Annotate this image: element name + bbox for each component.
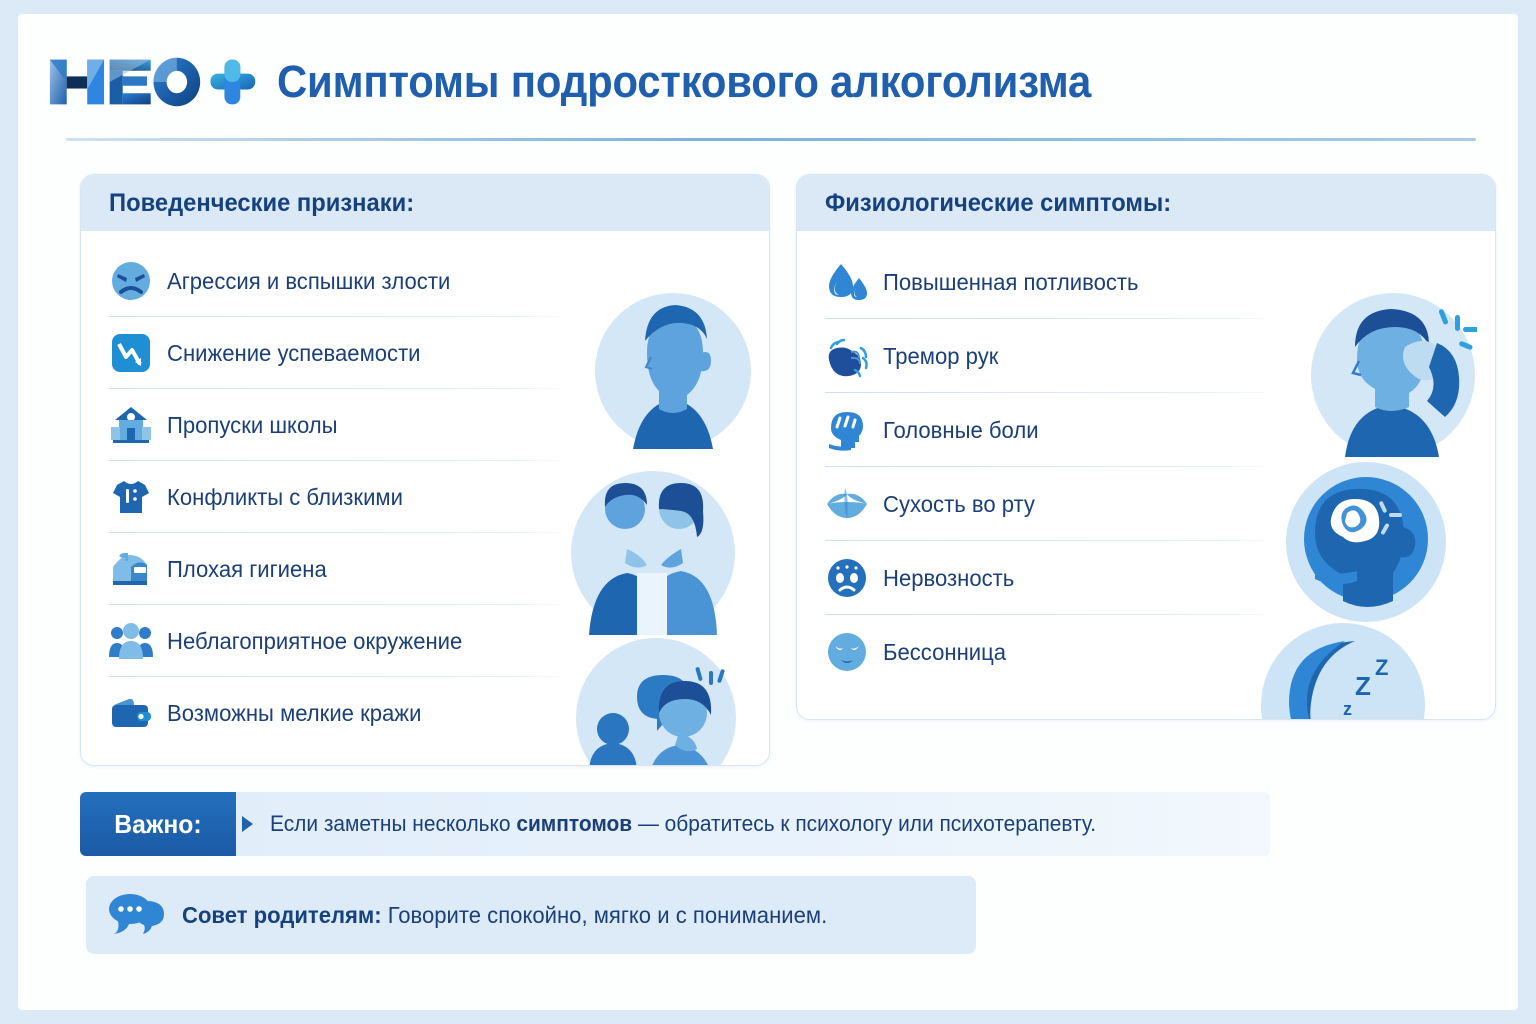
list-item-label: Плохая гигиена: [167, 556, 327, 583]
list-item[interactable]: Конфликты с близкими: [81, 461, 769, 533]
advice-body: Говорите спокойно, мягко и с пониманием.: [382, 902, 828, 928]
important-banner-text: Если заметны несколько симптомов — обрат…: [270, 811, 1096, 837]
behavioral-signs-card: Поведенческие признаки:: [80, 174, 770, 766]
list-item-label: Конфликты с близкими: [167, 484, 403, 511]
list-item-label: Возможны мелкие кражи: [167, 700, 421, 727]
important-text-bold: симптомов: [516, 811, 632, 836]
page-title: Симптомы подросткового алкоголизма: [277, 56, 1091, 108]
list-item-label: Агрессия и вспышки злости: [167, 268, 450, 295]
list-item-label: Тремор рук: [883, 343, 998, 370]
list-item[interactable]: Плохая гигиена: [81, 533, 769, 605]
list-item[interactable]: Нервозность: [797, 541, 1495, 615]
chart-decline-icon: [109, 331, 153, 375]
list-item[interactable]: Агрессия и вспышки злости: [81, 245, 769, 317]
head-pain-icon: [825, 408, 869, 452]
lips-icon: [825, 482, 869, 526]
advice-banner: Совет родителям: Говорите спокойно, мягк…: [86, 876, 976, 954]
behavioral-card-title: Поведенческие признаки:: [109, 189, 414, 218]
wallet-icon: [109, 691, 153, 735]
list-item[interactable]: Снижение успеваемости: [81, 317, 769, 389]
page-header: Симптомы подросткового алкоголизма: [46, 36, 1466, 128]
behavioral-card-header: Поведенческие признаки:: [81, 175, 769, 231]
angry-face-icon: [109, 259, 153, 303]
advice-banner-text: Совет родителям: Говорите спокойно, мягк…: [182, 902, 827, 929]
list-item[interactable]: Пропуски школы: [81, 389, 769, 461]
important-badge: Важно:: [80, 792, 236, 856]
important-badge-label: Важно:: [114, 809, 201, 840]
neo-plus-logo-icon: [46, 54, 261, 110]
behavioral-card-body: Агрессия и вспышки злости Снижение успев…: [81, 231, 769, 765]
sleepless-face-icon: [825, 630, 869, 674]
important-banner: Важно: Если заметны несколько симптомов …: [80, 792, 1270, 856]
infographic-page: Симптомы подросткового алкоголизма Повед…: [18, 14, 1518, 1010]
list-item[interactable]: Возможны мелкие кражи: [81, 677, 769, 749]
list-item-label: Сухость во рту: [883, 491, 1035, 518]
list-item-label: Снижение успеваемости: [167, 340, 421, 367]
water-drops-icon: [825, 260, 869, 304]
list-item-label: Пропуски школы: [167, 412, 338, 439]
svg-text:z: z: [1343, 699, 1352, 719]
shower-hygiene-icon: [109, 547, 153, 591]
header-divider: [66, 138, 1476, 141]
list-item[interactable]: Повышенная потливость: [797, 245, 1495, 319]
group-people-icon: [109, 619, 153, 663]
school-building-icon: [109, 403, 153, 447]
list-item[interactable]: Головные боли: [797, 393, 1495, 467]
list-item[interactable]: Тремор рук: [797, 319, 1495, 393]
physiological-card-header: Физиологические симптомы:: [797, 175, 1495, 231]
list-item-label: Бессонница: [883, 639, 1006, 666]
physiological-card-title: Физиологические симптомы:: [825, 189, 1171, 218]
speech-bubbles-icon: [108, 891, 166, 940]
shaking-hand-icon: [825, 334, 869, 378]
list-item-label: Нервозность: [883, 565, 1014, 592]
advice-label: Совет родителям:: [182, 902, 382, 928]
badge-arrow-icon: [242, 816, 253, 832]
tshirt-icon: [109, 475, 153, 519]
physiological-card-body: Z Z z Повышен: [797, 231, 1495, 719]
physiological-symptoms-card: Физиологические симптомы:: [796, 174, 1496, 720]
physiological-items-list: Повышенная потливость: [797, 245, 1495, 689]
important-text-after: — обратитесь к психологу или психотерапе…: [632, 811, 1096, 836]
list-item[interactable]: Неблагоприятное окружение: [81, 605, 769, 677]
list-item-label: Повышенная потливость: [883, 269, 1139, 296]
list-item[interactable]: Бессонница: [797, 615, 1495, 689]
behavioral-items-list: Агрессия и вспышки злости Снижение успев…: [81, 245, 769, 749]
list-item[interactable]: Сухость во рту: [797, 467, 1495, 541]
list-item-label: Неблагоприятное окружение: [167, 628, 462, 655]
list-item-label: Головные боли: [883, 417, 1039, 444]
worried-face-icon: [825, 556, 869, 600]
important-text-before: Если заметны несколько: [270, 811, 516, 836]
